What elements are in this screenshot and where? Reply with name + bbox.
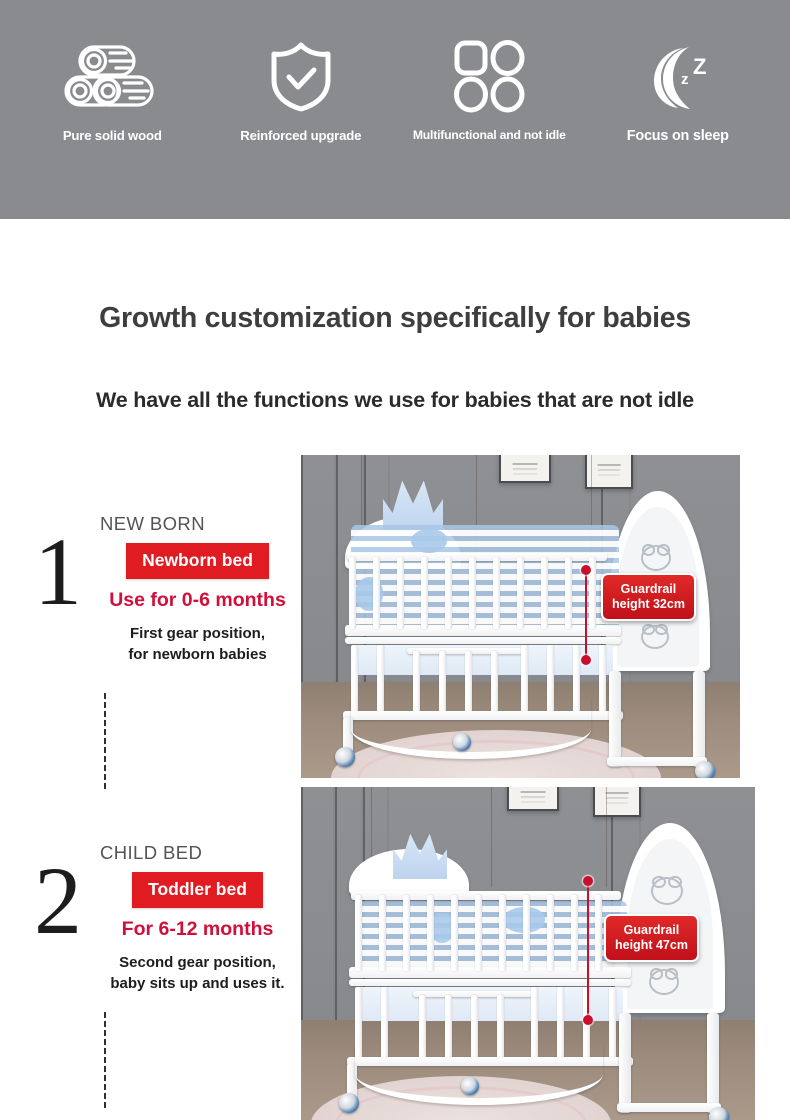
crib-slat: [541, 557, 548, 629]
feature-item-focus-on-sleep: Z z Focus on sleep: [584, 38, 773, 144]
wall-art-frame: [585, 455, 633, 489]
crib-slat: [421, 557, 428, 629]
crib-leg: [707, 1013, 719, 1113]
crib-caster: [339, 1093, 359, 1113]
crib-rocker-bar: [351, 699, 591, 759]
feature-item-multifunctional: Multifunctional and not idle: [395, 38, 584, 144]
guardrail-measure-line: [585, 569, 587, 661]
wall-art-frame: [499, 455, 551, 483]
crib-leg: [609, 671, 621, 767]
section-kicker: CHILD BED: [100, 842, 202, 864]
crib-slat: [499, 895, 506, 971]
crib-whale-print: [411, 529, 447, 553]
moon-zzz-icon: Z z: [637, 38, 719, 114]
crib-slat: [547, 895, 554, 971]
guardrail-measure-line: [587, 881, 589, 1021]
section-text-block: NEW BORN Newborn bed Use for 0-6 months …: [100, 513, 295, 666]
guardrail-measure-dot-top: [583, 876, 593, 886]
shield-check-icon: [268, 38, 334, 114]
crib-slat: [427, 895, 434, 971]
section-badge[interactable]: Toddler bed: [132, 872, 263, 908]
section-age-range: For 6-12 months: [122, 918, 274, 941]
crib-first-gear: [321, 485, 721, 775]
crib-slat: [565, 557, 572, 629]
crib-bear-decal: [641, 545, 671, 571]
crib-slat: [403, 895, 410, 971]
crib-slat: [475, 895, 482, 971]
callout-line2: height 32cm: [612, 597, 685, 612]
wall-art-lines: [521, 791, 546, 793]
crib-lower-rail: [345, 637, 621, 644]
crib-caster: [461, 1077, 479, 1095]
crib-slat: [517, 557, 524, 629]
section-kicker: NEW BORN: [100, 513, 205, 535]
four-shapes-grid-icon: [452, 38, 526, 114]
crib-slat: [445, 557, 452, 629]
feature-label: Multifunctional and not idle: [413, 128, 566, 142]
callout-line1: Guardrail: [621, 582, 677, 596]
crib-foot-rail: [617, 1103, 721, 1112]
section-description-line1: First gear position,: [130, 625, 265, 642]
feature-grid: Pure solid wood Reinforced upgrade: [0, 0, 790, 144]
product-photo-newborn[interactable]: Guardrail height 32cm: [301, 455, 740, 778]
section-number: 2: [34, 853, 82, 949]
feature-item-reinforced-upgrade: Reinforced upgrade: [207, 38, 396, 144]
guardrail-height-callout: Guardrail height 32cm: [601, 573, 696, 621]
crib-caster: [709, 1107, 729, 1120]
callout-line2: height 47cm: [615, 938, 688, 953]
feature-item-pure-solid-wood: Pure solid wood: [18, 38, 207, 144]
crib-bear-decal: [641, 625, 669, 649]
crib-second-gear: [323, 821, 733, 1117]
crib-slat: [379, 895, 386, 971]
section-description-line1: Second gear position,: [119, 954, 276, 971]
crib-slat: [469, 557, 476, 629]
feature-banner: Pure solid wood Reinforced upgrade: [0, 0, 790, 219]
feature-label: Focus on sleep: [627, 128, 729, 144]
section-description-line2: baby sits up and uses it.: [110, 975, 284, 992]
crib-caster: [695, 761, 715, 778]
crib-leg: [619, 1013, 631, 1113]
wall-art-lines: [598, 464, 621, 466]
crib-lower-slat: [599, 645, 606, 713]
crib-top-rail: [351, 891, 621, 900]
wall-art-lines: [606, 792, 629, 794]
svg-text:Z: Z: [693, 54, 706, 79]
page-subheadline: We have all the functions we use for bab…: [0, 388, 790, 413]
crib-mid-rail: [345, 625, 621, 636]
stacked-logs-icon: [64, 38, 160, 114]
page-headline: Growth customization specifically for ba…: [0, 302, 790, 335]
wall-art-frame: [507, 787, 559, 811]
product-detail-page: Pure solid wood Reinforced upgrade: [0, 0, 790, 1120]
callout-line1: Guardrail: [624, 923, 680, 937]
crib-leg: [693, 671, 705, 767]
crib-bedding: [351, 525, 619, 635]
crib-bear-decal: [651, 877, 683, 905]
crib-slat: [355, 895, 362, 971]
section-age-range: Use for 0-6 months: [109, 589, 286, 612]
product-photo-toddler[interactable]: Guardrail height 47cm: [301, 787, 755, 1120]
wall-art-frame: [593, 787, 641, 817]
crib-bear-decal: [649, 969, 679, 995]
crib-slat: [397, 557, 404, 629]
crib-caster: [453, 733, 471, 751]
crib-slat: [571, 895, 578, 971]
feature-label: Pure solid wood: [63, 128, 162, 143]
crib-slat: [595, 895, 602, 971]
crib-slat: [523, 895, 530, 971]
wall-art-lines: [513, 463, 538, 465]
section-description-line2: for newborn babies: [128, 646, 266, 663]
crib-lower-slat: [609, 987, 616, 1059]
guardrail-measure-dot-bottom: [583, 1015, 593, 1025]
section-child-bed: 2 CHILD BED Toddler bed For 6-12 months …: [0, 785, 300, 1120]
crib-slat: [451, 895, 458, 971]
section-description: Second gear position, baby sits up and u…: [110, 952, 284, 995]
crib-foot-rail: [607, 757, 707, 766]
guardrail-measure-dot-bottom: [581, 655, 591, 665]
guardrail-height-callout: Guardrail height 47cm: [604, 914, 699, 962]
crib-slat: [493, 557, 500, 629]
section-description: First gear position, for newborn babies: [128, 623, 266, 666]
guardrail-measure-dot-top: [581, 565, 591, 575]
crib-slat: [349, 557, 356, 629]
crib-caster: [335, 747, 355, 767]
section-number: 1: [34, 524, 82, 620]
section-badge[interactable]: Newborn bed: [126, 543, 269, 579]
crib-slat: [373, 557, 380, 629]
feature-label: Reinforced upgrade: [240, 128, 361, 143]
svg-text:z: z: [681, 71, 689, 88]
section-text-block: CHILD BED Toddler bed For 6-12 months Se…: [100, 842, 295, 995]
crib-rocker-bar: [355, 1043, 603, 1105]
section-newborn: 1 NEW BORN Newborn bed Use for 0-6 month…: [0, 455, 300, 780]
